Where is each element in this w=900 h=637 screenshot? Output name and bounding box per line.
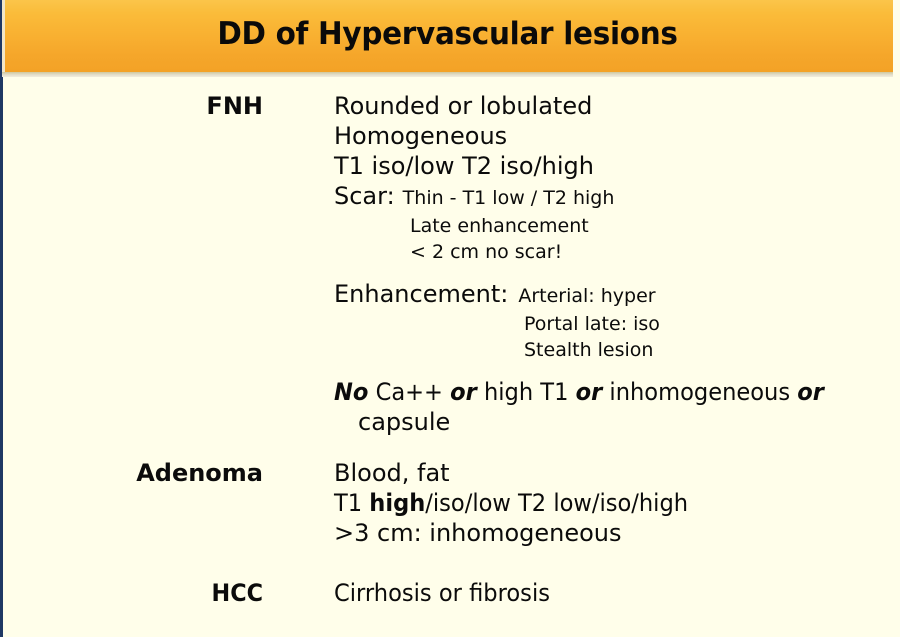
fnh-line-negatives: No Ca++ or high T1 or inhomogeneous or [334,377,860,407]
section-body-adenoma: Blood, fat T1 high/iso/low T2 low/iso/hi… [334,458,894,548]
left-accent-rule [0,0,3,637]
page-title: DD of Hypervascular lesions [24,14,870,54]
fnh-neg-calcification: Ca++ [376,378,443,406]
fnh-scar-label: Scar: [334,182,395,210]
fnh-neg-inhomogeneous: inhomogeneous [609,378,790,406]
fnh-line-shape: Rounded or lobulated [334,91,894,121]
adenoma-line-size: >3 cm: inhomogeneous [334,518,894,548]
fnh-enhancement-portal-late: Portal late: iso [334,311,894,337]
fnh-line-scar: Scar:Thin - T1 low / T2 high [334,181,894,213]
fnh-neg-no: No [334,378,368,406]
fnh-line-enhancement: Enhancement:Arterial: hyper [334,279,894,311]
title-banner: DD of Hypervascular lesions [2,0,893,72]
adenoma-t1-prefix: T1 [334,489,369,517]
adenoma-signal-rest: /iso/low T2 low/iso/high [425,489,688,517]
fnh-neg-or-2: or [576,378,603,406]
section-label-fnh: FNH [0,91,263,121]
fnh-neg-or-1: or [450,378,477,406]
fnh-scar-sub-size: < 2 cm no scar! [334,239,894,265]
fnh-scar-sub-late-enhancement: Late enhancement [334,213,894,239]
section-body-fnh: Rounded or lobulated Homogeneous T1 iso/… [334,91,894,437]
fnh-neg-capsule: capsule [334,407,894,437]
fnh-neg-high-t1: high T1 [484,378,568,406]
section-body-hcc: Cirrhosis or fibrosis [334,578,894,608]
fnh-scar-value: Thin - T1 low / T2 high [395,187,615,209]
fnh-enhancement-arterial: Arterial: hyper [508,285,655,307]
slide-canvas: DD of Hypervascular lesions FNH Rounded … [0,0,900,637]
spacer-before-no-line [334,363,894,377]
adenoma-line-composition: Blood, fat [334,458,894,488]
spacer-before-enhancement [334,265,894,279]
section-label-adenoma: Adenoma [0,458,263,488]
section-label-hcc: HCC [18,578,263,608]
adenoma-line-signal: T1 high/iso/low T2 low/iso/high [334,488,860,518]
fnh-enhancement-label: Enhancement: [334,280,508,308]
fnh-line-signal: T1 iso/low T2 iso/high [334,151,894,181]
fnh-line-homogeneity: Homogeneous [334,121,894,151]
adenoma-t1-high: high [369,489,425,517]
banner-underline [2,72,893,77]
fnh-neg-or-3: or [797,378,824,406]
slide-content: FNH Rounded or lobulated Homogeneous T1 … [0,77,900,637]
fnh-enhancement-stealth: Stealth lesion [334,337,894,363]
hcc-line-background: Cirrhosis or fibrosis [334,578,860,608]
